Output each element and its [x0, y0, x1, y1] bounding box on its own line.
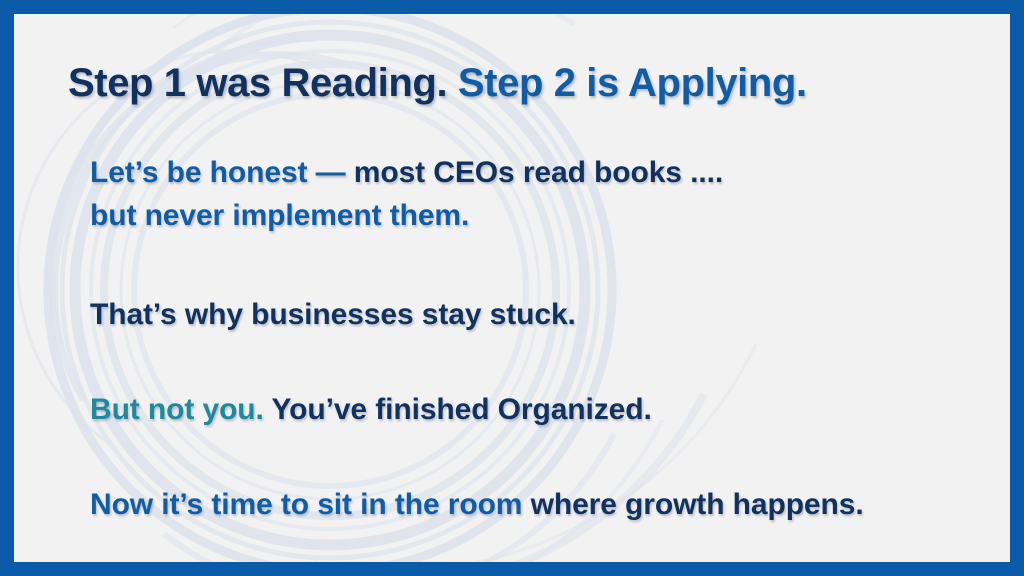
slide-canvas: Step 1 was Reading. Step 2 is Applying. …: [14, 14, 1010, 562]
paragraph-honesty-line-1: Let’s be honest — most CEOs read books .…: [90, 152, 970, 195]
paragraph-honesty-tail: most CEOs read books ....: [354, 156, 723, 189]
paragraph-but-not-you-lead: But not you.: [90, 393, 271, 426]
page-title: Step 1 was Reading. Step 2 is Applying.: [68, 62, 807, 104]
paragraph-but-not-you-tail: You’ve finished Organized.: [271, 393, 651, 426]
paragraph-honesty-line-2: but never implement them.: [90, 195, 970, 238]
paragraph-honesty: Let’s be honest — most CEOs read books .…: [90, 152, 970, 237]
headline-segment-step2: Step 2 is Applying.: [458, 61, 807, 105]
headline-segment-step1: Step 1 was Reading.: [68, 61, 458, 105]
paragraph-growth-room: Now it’s time to sit in the room where g…: [90, 484, 970, 527]
paragraph-growth-room-tail: where growth happens.: [531, 488, 864, 521]
paragraph-growth-room-lead: Now it’s time to sit in the room: [90, 488, 531, 521]
slide-content: Step 1 was Reading. Step 2 is Applying. …: [14, 14, 1010, 562]
slide-root: Step 1 was Reading. Step 2 is Applying. …: [0, 0, 1024, 576]
paragraph-but-not-you: But not you. You’ve finished Organized.: [90, 389, 970, 432]
paragraph-honesty-lead: Let’s be honest —: [90, 156, 354, 189]
paragraph-stuck: That’s why businesses stay stuck.: [90, 294, 970, 337]
